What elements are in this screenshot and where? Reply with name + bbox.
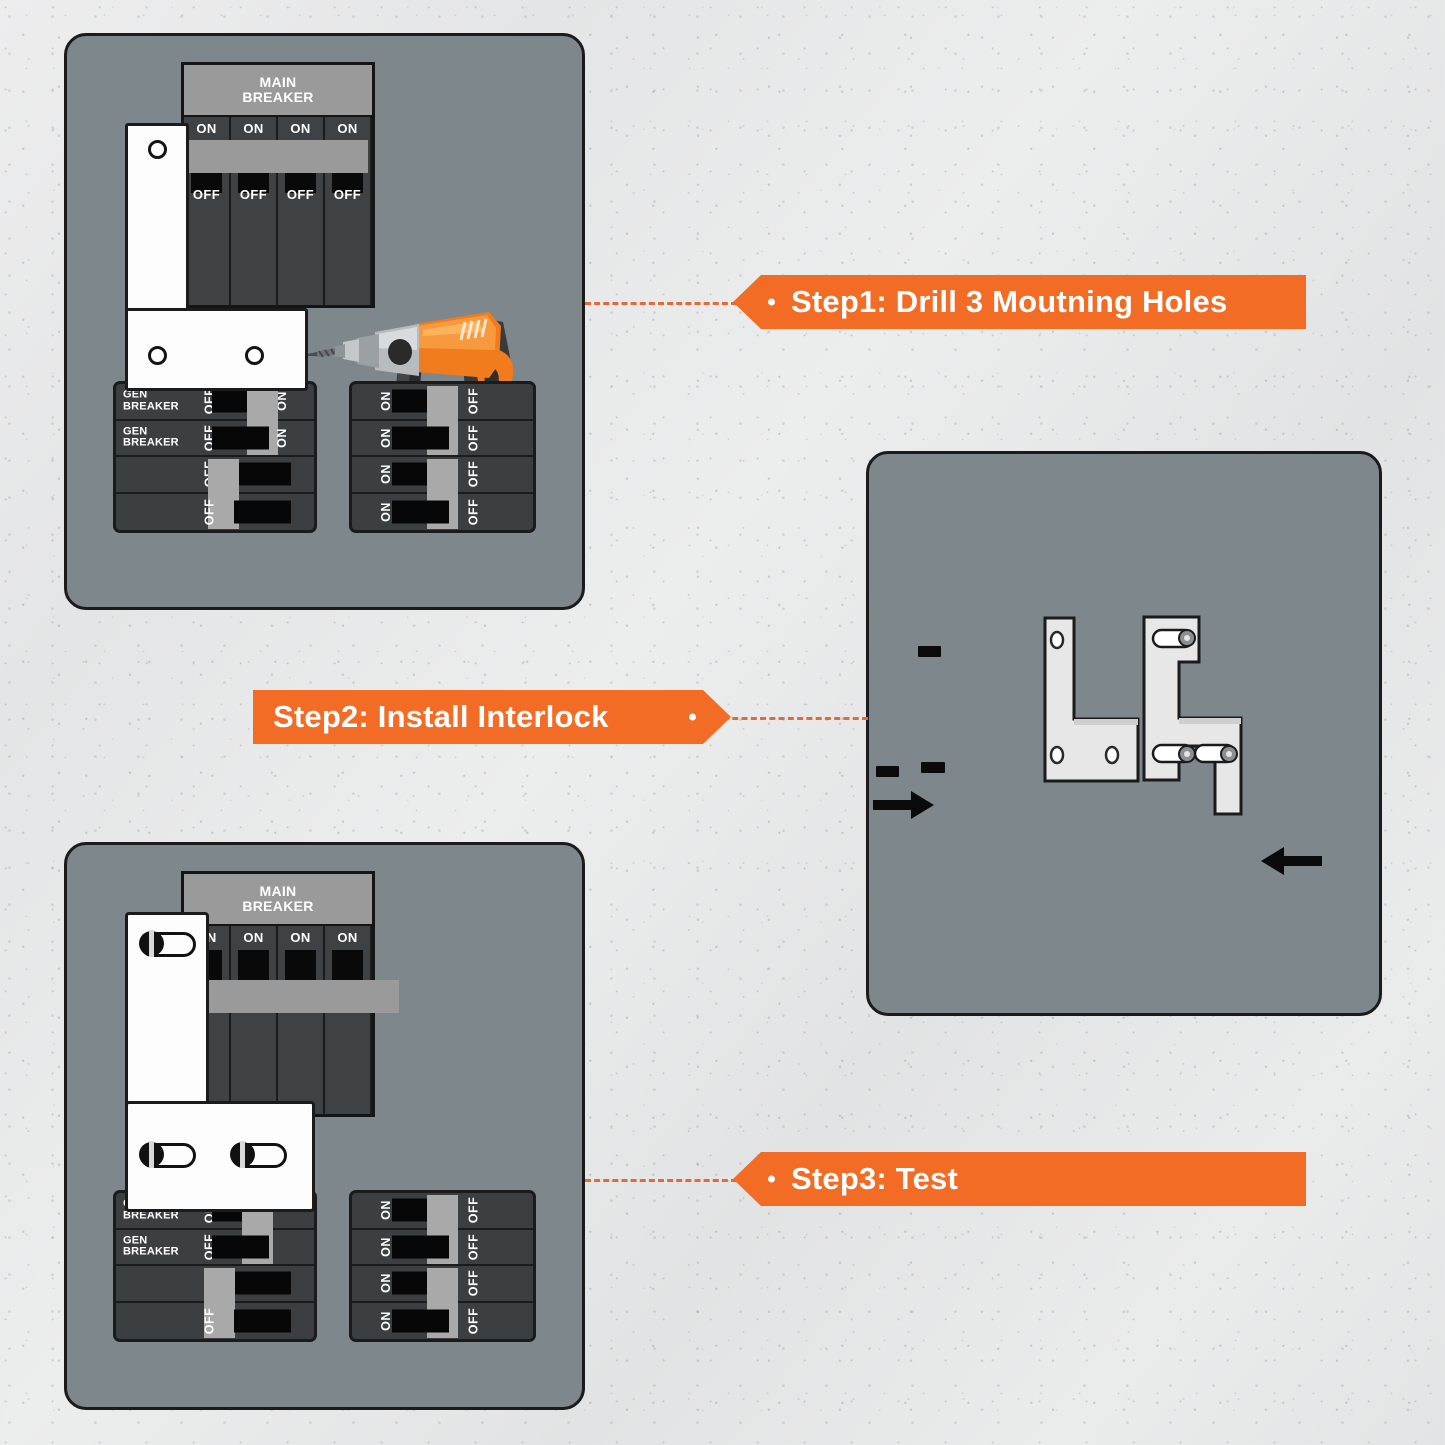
step1-tip-dot [768,299,775,306]
pole-switch-block [238,950,269,982]
step2-callout[interactable]: Step2: Install Interlock [253,690,731,744]
row-left-label: OFF [202,499,216,526]
row-right-label: OFF [466,461,480,488]
main-breaker-handle-bar[interactable] [188,140,368,173]
pole-off-label: OFF [325,187,370,202]
step2-label: Step2: Install Interlock [273,699,609,735]
row-right-label: OFF [466,388,480,415]
step2-tip-dot [689,714,696,721]
screw-slot-bottom-right [231,1143,287,1168]
breaker-row[interactable]: OFF ON [116,494,314,531]
screw-head-icon [139,931,164,956]
row-slot [212,426,269,449]
row-slot [234,500,291,523]
pole-on-label: ON [278,930,323,945]
main-breaker-handle-bar[interactable] [186,980,399,1013]
row-slot [392,426,449,449]
breaker-row[interactable]: ON OFF [352,1230,533,1267]
screw-head-icon [230,1142,255,1167]
pole-off-label: OFF [231,187,276,202]
step3-label: Step3: Test [791,1161,958,1197]
row-left-label: OFF [202,1308,216,1335]
breaker-bank-left-step3: GEN BREAKER OFF GEN BREAKER OFF OFF ON O… [113,1190,317,1342]
step1-callout[interactable]: Step1: Drill 3 Moutning Holes [733,275,1306,329]
main-breaker-pole-2[interactable]: ON OFF [231,926,278,1114]
breaker-row[interactable]: ON OFF [352,457,533,494]
panel-step3-test: MAIN BREAKER ON OFF ON OFF ON OFF ON [64,842,585,1410]
pole-off-label: OFF [184,187,229,202]
row-left-label: ON [379,502,393,522]
step3-callout[interactable]: Step3: Test [733,1152,1306,1206]
breaker-row[interactable]: ON OFF [352,384,533,421]
arrow-left-icon [1260,846,1322,876]
pole-switch-block [332,950,363,982]
row-left-label: ON [379,464,393,484]
main-breaker-header: MAIN BREAKER [184,874,372,926]
breaker-bank-right-step1: ON OFF ON OFF ON OFF ON OFF [349,381,536,533]
main-breaker-header: MAIN BREAKER [184,65,372,117]
breaker-bank-right-step3: ON OFF ON OFF ON OFF ON OFF [349,1190,536,1342]
screw-head-icon [139,1142,164,1167]
pole-on-label: ON [184,121,229,136]
dash-mark-2 [876,766,899,777]
step1-label: Step1: Drill 3 Moutning Holes [791,284,1227,320]
row-left-label: ON [379,1311,393,1331]
breaker-row[interactable]: ON OFF [352,1303,533,1340]
screw-slot-top [140,932,196,957]
panel-step1-drill-holes: MAIN BREAKER ON OFF ON OFF ON OFF ON [64,33,585,610]
mounting-hole-top [148,140,167,159]
main-breaker-pole-4[interactable]: ON OFF [325,926,372,1114]
dash-mark-3 [921,762,945,773]
row-slot [234,1272,291,1295]
pole-on-label: ON [231,121,276,136]
step2-connector-line [723,717,868,720]
step1-connector-line [585,302,737,305]
row-right-label: OFF [466,499,480,526]
screw-slot-bottom-left [140,1143,196,1168]
pole-on-label: ON [231,930,276,945]
breaker-row[interactable]: OFF ON [116,457,314,494]
main-breaker-title-line1: MAIN [260,75,297,90]
pole-off-label: OFF [278,187,323,202]
row-left-label: ON [379,1273,393,1293]
main-breaker-title-line2: BREAKER [242,90,313,105]
pole-on-label: ON [325,121,370,136]
breaker-row[interactable]: ON OFF [352,1193,533,1230]
installation-steps-infographic: { "theme": { "accent": "#f26c26", "panel… [0,0,1445,1445]
breaker-row[interactable]: GEN BREAKER OFF ON [116,421,314,458]
mounting-hole-bottom [148,346,167,365]
main-breaker-title-line2: BREAKER [242,899,313,914]
main-breaker-pole-3[interactable]: ON OFF [278,926,325,1114]
gen-breaker-label: GEN BREAKER [123,1235,179,1258]
main-breaker-poles: ON OFF ON OFF ON OFF ON OFF [184,117,372,305]
breaker-row[interactable]: ON OFF [352,1266,533,1303]
row-right-label: OFF [466,1308,480,1335]
arrow-right-icon [873,790,935,820]
row-slot [234,463,291,486]
row-left-label: ON [379,1200,393,1220]
breaker-row[interactable]: ON OFF [352,494,533,531]
breaker-bank-left-step1: GEN BREAKER OFF ON GEN BREAKER OFF ON OF… [113,381,317,533]
dash-mark-1 [918,646,941,657]
main-breaker-title-line1: MAIN [260,884,297,899]
main-breaker-step3: MAIN BREAKER ON OFF ON OFF ON OFF ON [181,871,375,1117]
row-slot [392,1309,449,1332]
main-breaker-step1: MAIN BREAKER ON OFF ON OFF ON OFF ON [181,62,375,308]
row-slot [392,1235,449,1258]
row-right-label: OFF [466,1234,480,1261]
row-slot [392,500,449,523]
breaker-row[interactable]: OFF ON [116,1303,314,1340]
breaker-row[interactable]: ON OFF [352,421,533,458]
step3-tip-dot [768,1176,775,1183]
row-left-label: ON [379,1237,393,1257]
step3-connector-line [585,1179,737,1182]
main-breaker-poles: ON OFF ON OFF ON OFF ON OFF [184,926,372,1114]
row-right-label: OFF [466,1197,480,1224]
breaker-row[interactable]: OFF ON [116,1266,314,1303]
gen-breaker-label: GEN BREAKER [123,426,179,449]
breaker-row[interactable]: GEN BREAKER OFF [116,1230,314,1267]
interlock-bracket-with-screws [1141,614,1253,827]
row-left-label: ON [379,391,393,411]
pole-switch-block [285,950,316,982]
panel-step2-install-interlock [866,451,1382,1016]
interlock-bracket-plain [1042,615,1142,787]
pole-on-label: ON [325,930,370,945]
row-right-label: ON [275,428,289,448]
gen-breaker-label: GEN BREAKER [123,390,179,413]
row-right-label: OFF [466,1270,480,1297]
row-left-label: ON [379,428,393,448]
row-right-label: OFF [466,425,480,452]
mounting-hole-right [245,346,264,365]
row-slot [234,1309,291,1332]
pole-on-label: ON [278,121,323,136]
row-slot [212,1235,269,1258]
